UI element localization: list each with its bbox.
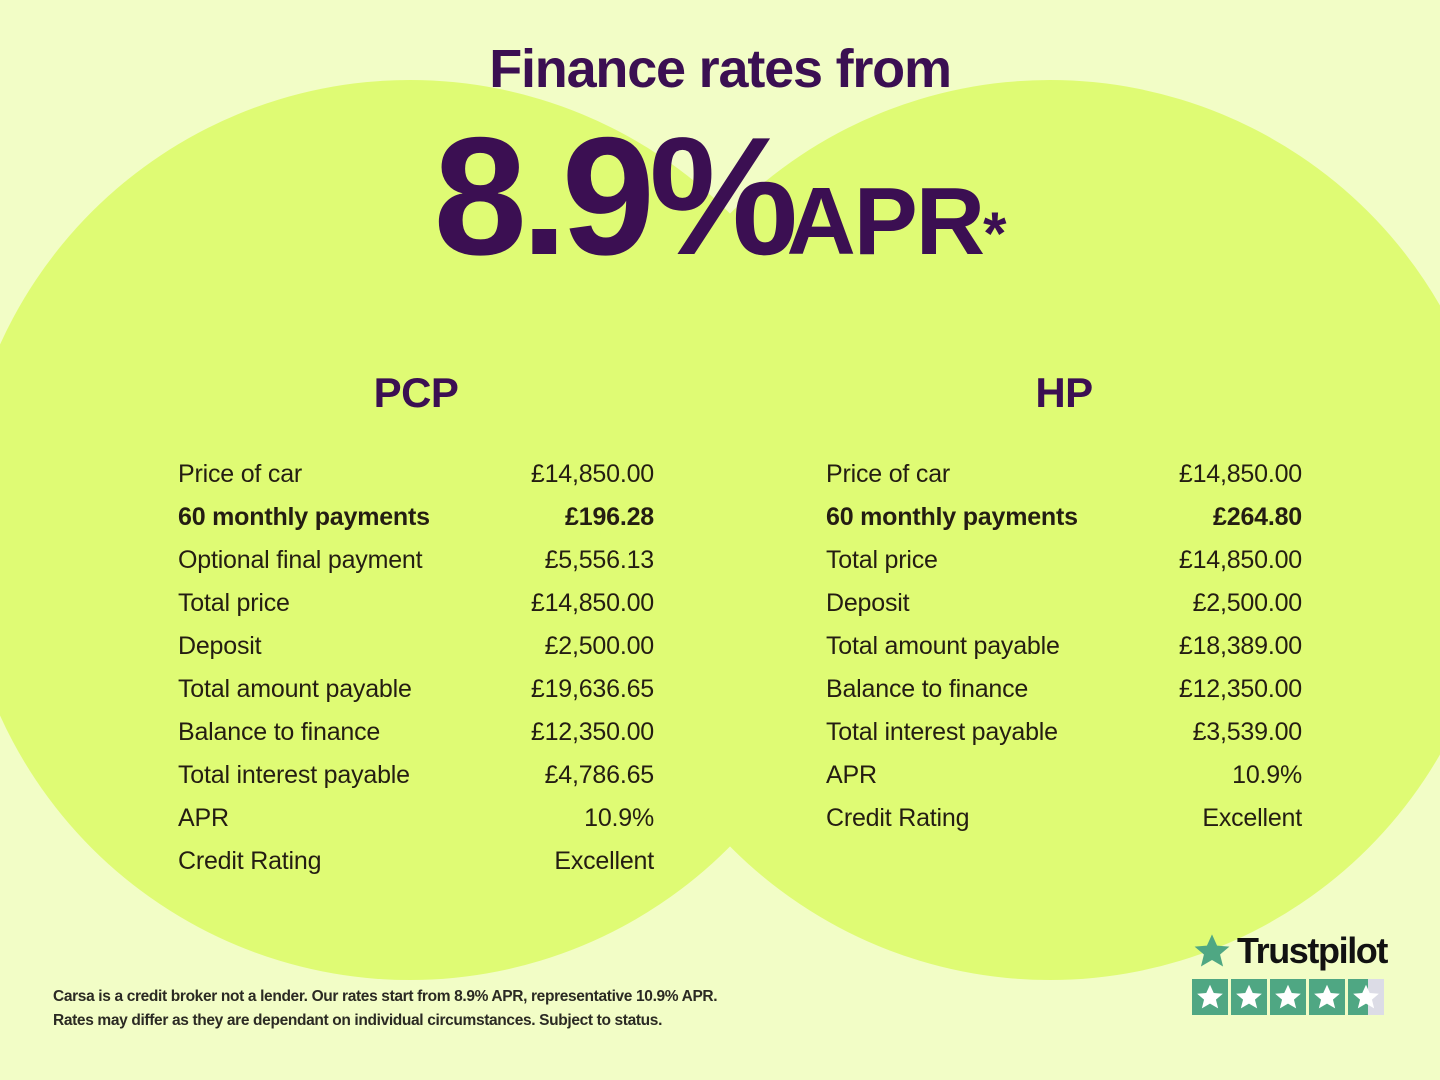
rating-star-3 [1270, 979, 1306, 1015]
table-row: Total amount payable £19,636.65 [178, 675, 654, 718]
row-value: £264.80 [1213, 503, 1302, 532]
table-row: Deposit £2,500.00 [178, 632, 654, 675]
row-value: 10.9% [584, 804, 654, 833]
table-row: Total interest payable £4,786.65 [178, 761, 654, 804]
table-row: Total price £14,850.00 [178, 589, 654, 632]
row-value: Excellent [554, 847, 654, 876]
rating-star-1 [1192, 979, 1228, 1015]
table-row: APR 10.9% [178, 804, 654, 847]
table-row: Balance to finance £12,350.00 [178, 718, 654, 761]
legal-disclaimer: Carsa is a credit broker not a lender. O… [53, 985, 813, 1033]
row-label: APR [826, 761, 877, 790]
row-label: Total price [826, 546, 938, 575]
footnote-asterisk: * [983, 200, 1006, 267]
row-label: Total interest payable [826, 718, 1058, 747]
page-title: Finance rates from [0, 42, 1440, 96]
row-label: Price of car [178, 460, 302, 489]
table-row: 60 monthly payments £196.28 [178, 503, 654, 546]
table-row: Credit Rating Excellent [826, 804, 1302, 847]
row-value: £2,500.00 [1193, 589, 1302, 618]
table-row: 60 monthly payments £264.80 [826, 503, 1302, 546]
row-label: Total interest payable [178, 761, 410, 790]
rating-star-4 [1309, 979, 1345, 1015]
finance-table-pcp: PCP Price of car £14,850.00 60 monthly p… [178, 372, 654, 890]
row-label: Total amount payable [826, 632, 1060, 661]
table-row: Balance to finance £12,350.00 [826, 675, 1302, 718]
rate-value: 8.9% [434, 102, 793, 290]
row-label: Credit Rating [178, 847, 321, 876]
table-row: Price of car £14,850.00 [826, 460, 1302, 503]
rating-star-5-partial [1348, 979, 1384, 1015]
rate-unit: APR [786, 168, 983, 275]
row-label: Balance to finance [826, 675, 1028, 704]
row-value: £5,556.13 [545, 546, 654, 575]
table-title-pcp: PCP [178, 372, 654, 414]
table-row: Price of car £14,850.00 [178, 460, 654, 503]
row-value: 10.9% [1232, 761, 1302, 790]
disclaimer-line-2: Rates may differ as they are dependant o… [53, 1009, 813, 1033]
row-label: Deposit [178, 632, 261, 661]
table-rows-hp: Price of car £14,850.00 60 monthly payme… [826, 460, 1302, 847]
row-value: £2,500.00 [545, 632, 654, 661]
table-row: Credit Rating Excellent [178, 847, 654, 890]
table-rows-pcp: Price of car £14,850.00 60 monthly payme… [178, 460, 654, 890]
row-value: £14,850.00 [1179, 460, 1302, 489]
table-row: Optional final payment £5,556.13 [178, 546, 654, 589]
row-label: Total price [178, 589, 290, 618]
row-value: £12,350.00 [531, 718, 654, 747]
row-value: £4,786.65 [545, 761, 654, 790]
row-value: £18,389.00 [1179, 632, 1302, 661]
row-value: £196.28 [565, 503, 654, 532]
row-label: 60 monthly payments [178, 503, 430, 532]
table-row: APR 10.9% [826, 761, 1302, 804]
row-label: Deposit [826, 589, 909, 618]
poster-content: Finance rates from 8.9%APR* PCP Price of… [0, 0, 1440, 1080]
trustpilot-rating: Trustpilot [1192, 930, 1392, 1015]
disclaimer-line-1: Carsa is a credit broker not a lender. O… [53, 985, 813, 1009]
row-label: Balance to finance [178, 718, 380, 747]
row-label: Total amount payable [178, 675, 412, 704]
row-label: Credit Rating [826, 804, 969, 833]
table-row: Total interest payable £3,539.00 [826, 718, 1302, 761]
row-value: £14,850.00 [531, 460, 654, 489]
row-value: £19,636.65 [531, 675, 654, 704]
trustpilot-star-icon [1192, 932, 1232, 970]
trustpilot-name: Trustpilot [1237, 933, 1387, 969]
table-row: Total amount payable £18,389.00 [826, 632, 1302, 675]
row-value: Excellent [1202, 804, 1302, 833]
row-label: APR [178, 804, 229, 833]
row-label: Price of car [826, 460, 950, 489]
row-label: 60 monthly payments [826, 503, 1078, 532]
table-row: Total price £14,850.00 [826, 546, 1302, 589]
table-title-hp: HP [826, 372, 1302, 414]
trustpilot-wordmark: Trustpilot [1192, 930, 1392, 972]
trustpilot-star-row [1192, 979, 1392, 1015]
table-row: Deposit £2,500.00 [826, 589, 1302, 632]
row-value: £14,850.00 [1179, 546, 1302, 575]
row-label: Optional final payment [178, 546, 422, 575]
row-value: £12,350.00 [1179, 675, 1302, 704]
headline-rate: 8.9%APR* [0, 112, 1440, 280]
rating-star-2 [1231, 979, 1267, 1015]
row-value: £3,539.00 [1193, 718, 1302, 747]
poster-canvas: Finance rates from 8.9%APR* PCP Price of… [0, 0, 1440, 1080]
row-value: £14,850.00 [531, 589, 654, 618]
finance-table-hp: HP Price of car £14,850.00 60 monthly pa… [826, 372, 1302, 847]
